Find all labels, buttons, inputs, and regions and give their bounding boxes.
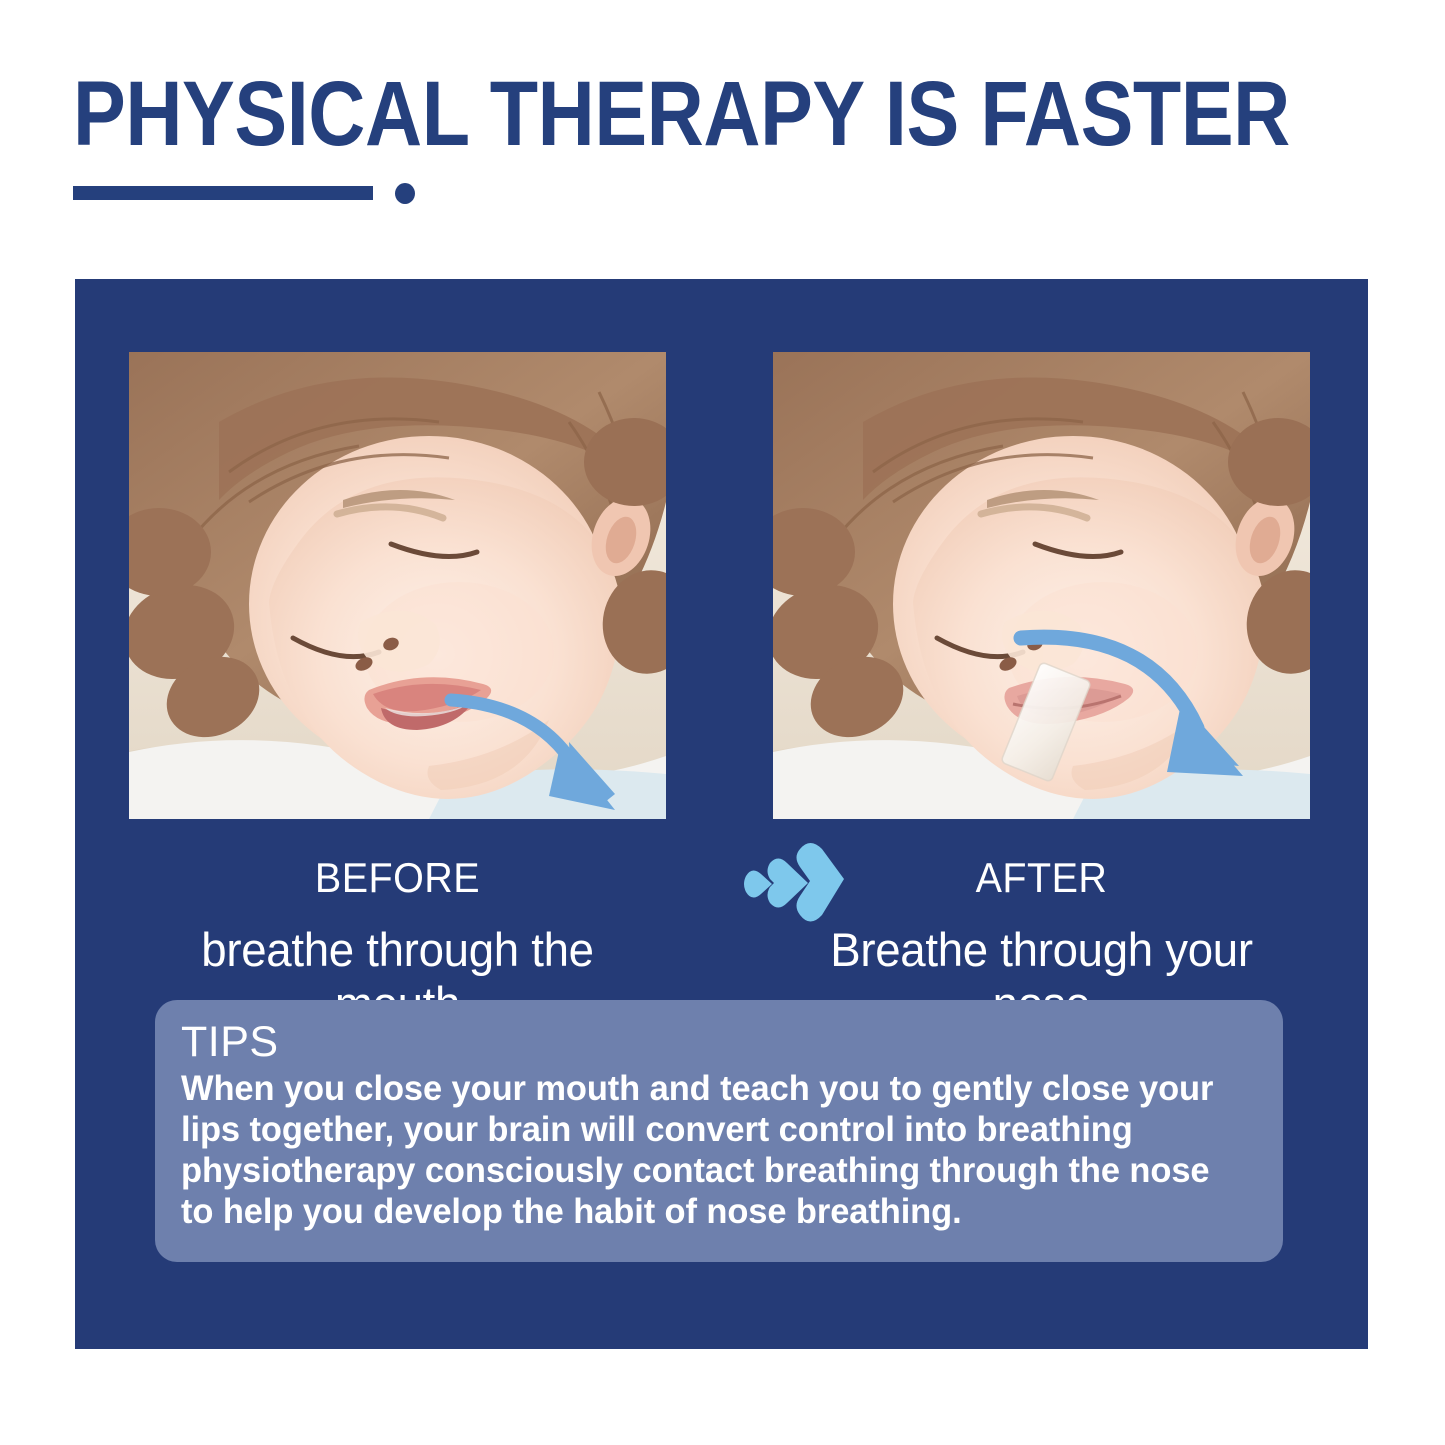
before-photo — [129, 352, 666, 819]
page-title: PHYSICAL THERAPY IS FASTER — [73, 68, 1290, 160]
title-accent-dot — [395, 183, 415, 204]
after-label: AFTER — [789, 855, 1294, 901]
after-photo — [773, 352, 1310, 819]
before-photo-illustration — [129, 352, 666, 819]
tips-title: TIPS — [181, 1018, 1257, 1066]
comparison-panel: BEFORE breathe through the mouth AFTER B… — [75, 279, 1368, 1349]
tips-box: TIPS When you close your mouth and teach… — [155, 1000, 1283, 1262]
infographic-page: PHYSICAL THERAPY IS FASTER — [0, 0, 1445, 1445]
title-accent-bar — [73, 186, 373, 200]
tips-body: When you close your mouth and teach you … — [181, 1068, 1241, 1232]
before-label: BEFORE — [145, 855, 650, 901]
after-photo-illustration — [773, 352, 1310, 819]
